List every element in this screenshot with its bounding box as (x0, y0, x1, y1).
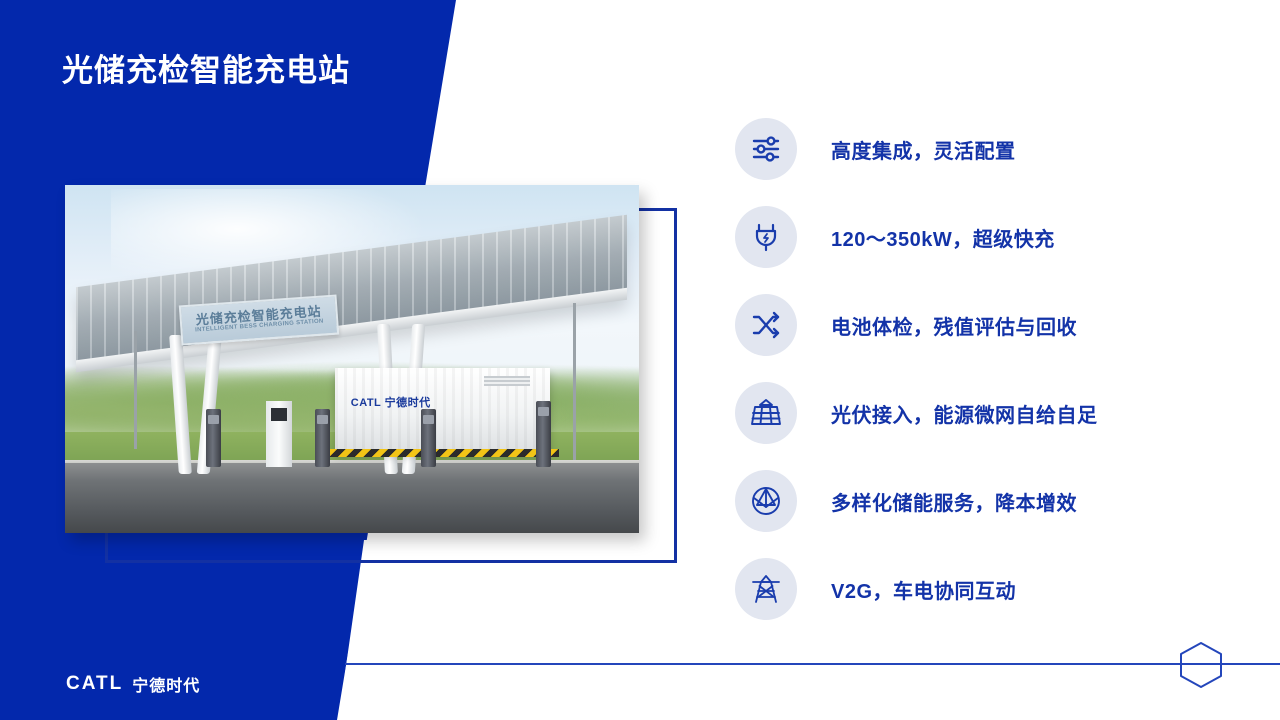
slide-root: 光储充检智能充电站 光储充检智能充电站 INTELLIGENT BESS CHA… (0, 0, 1280, 720)
feature-label-4: 光伏接入，能源微网自给自足 (831, 399, 1098, 428)
photo-battery-container: CATL 宁德时代 (335, 368, 550, 453)
photo-charging-post (206, 409, 221, 467)
hexagon-decoration (1179, 641, 1223, 689)
catl-logo-latin: CATL (66, 673, 123, 695)
photo-hazard-strip (329, 449, 559, 457)
shuffle-icon (735, 294, 797, 356)
feature-label-3: 电池体检，残值评估与回收 (831, 311, 1077, 340)
feature-item-6: V2G，车电协同互动 (735, 558, 1255, 620)
feature-label-2: 120～350kW，超级快充 (831, 223, 1055, 252)
photo-charging-post (536, 401, 551, 467)
feature-label-1: 高度集成，灵活配置 (831, 135, 1016, 164)
feature-label-6: V2G，车电协同互动 (831, 575, 1016, 604)
photo-lamp-post (573, 303, 576, 460)
feature-item-5: 多样化储能服务，降本增效 (735, 470, 1255, 532)
page-title: 光储充检智能充电站 (62, 45, 350, 90)
station-photo: 光储充检智能充电站 INTELLIGENT BESS CHARGING STAT… (65, 185, 639, 533)
photo-container-brand: CATL 宁德时代 (351, 394, 431, 410)
feature-item-3: 电池体检，残值评估与回收 (735, 294, 1255, 356)
feature-item-4: 光伏接入，能源微网自给自足 (735, 382, 1255, 444)
photo-charging-post (315, 409, 330, 467)
photo-road (65, 463, 639, 533)
feature-item-1: 高度集成，灵活配置 (735, 118, 1255, 180)
photo-control-cabinet (266, 401, 292, 467)
feature-list: 高度集成，灵活配置 120～350kW，超级快充 (735, 118, 1255, 620)
catl-logo-chinese: 宁德时代 (132, 672, 200, 696)
photo-container-vent (484, 376, 530, 386)
power-tower-icon (735, 558, 797, 620)
feature-item-2: 120～350kW，超级快充 (735, 206, 1255, 268)
plug-icon (735, 206, 797, 268)
sliders-icon (735, 118, 797, 180)
photo-lamp-post (134, 331, 137, 449)
globe-network-icon (735, 470, 797, 532)
catl-logo: CATL 宁德时代 (66, 672, 200, 696)
photo-canvas: 光储充检智能充电站 INTELLIGENT BESS CHARGING STAT… (65, 185, 639, 533)
photo-charging-post (421, 409, 436, 467)
solar-panel-icon (735, 382, 797, 444)
bottom-divider-line (345, 663, 1280, 665)
feature-label-5: 多样化储能服务，降本增效 (831, 487, 1077, 516)
